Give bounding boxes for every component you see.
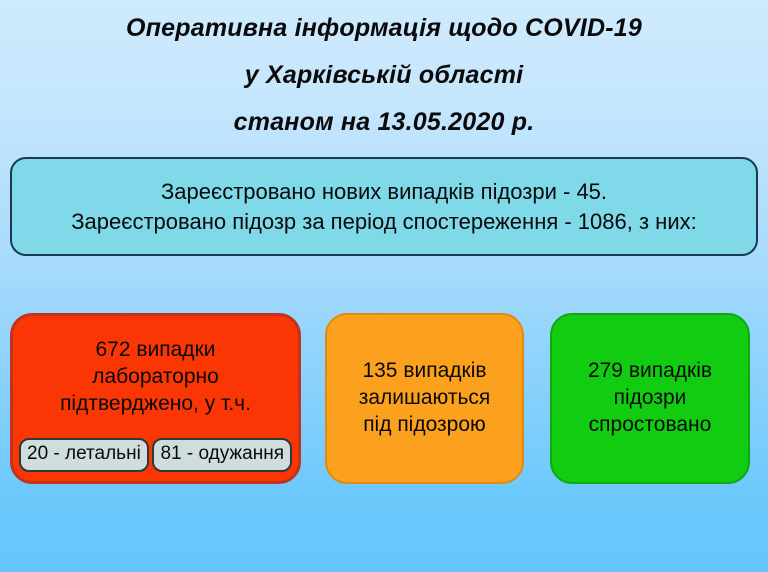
title-line-2: у Харківській області [0, 63, 768, 88]
stat-card-under-suspicion-line-1: 135 випадків [362, 358, 486, 385]
stat-card-refuted-line-1: 279 випадків [588, 358, 712, 385]
stat-card-under-suspicion-line-3: під підозрою [363, 412, 486, 439]
summary-line-new-cases: Зареєстровано нових випадків підозри - 4… [161, 177, 607, 206]
summary-line-total-cases: Зареєстровано підозр за період спостереж… [71, 207, 696, 236]
stat-card-refuted-line-2: підозри [614, 385, 687, 412]
stat-card-confirmed-line-1: 672 випадки [96, 337, 216, 364]
title-line-1: Оперативна інформація щодо COVID-19 [0, 16, 768, 41]
page-title: Оперативна інформація щодо COVID-19 у Ха… [0, 0, 768, 135]
stat-card-under-suspicion: 135 випадків залишаються під підозрою [325, 313, 524, 484]
badge-fatal: 20 - летальні [19, 438, 149, 472]
stat-card-refuted: 279 випадків підозри спростовано [550, 313, 750, 484]
title-line-3: станом на 13.05.2020 р. [0, 110, 768, 135]
stat-card-confirmed: 672 випадки лабораторно підтверджено, у … [10, 313, 301, 484]
stat-card-refuted-line-3: спростовано [589, 412, 712, 439]
stat-card-confirmed-line-3: підтверджено, у т.ч. [60, 391, 251, 418]
stat-card-confirmed-line-2: лабораторно [92, 364, 219, 391]
badge-row: 20 - летальні 81 - одужання [13, 438, 298, 472]
stat-card-under-suspicion-line-2: залишаються [359, 385, 491, 412]
badge-recovered: 81 - одужання [152, 438, 292, 472]
summary-box: Зареєстровано нових випадків підозри - 4… [10, 157, 758, 256]
